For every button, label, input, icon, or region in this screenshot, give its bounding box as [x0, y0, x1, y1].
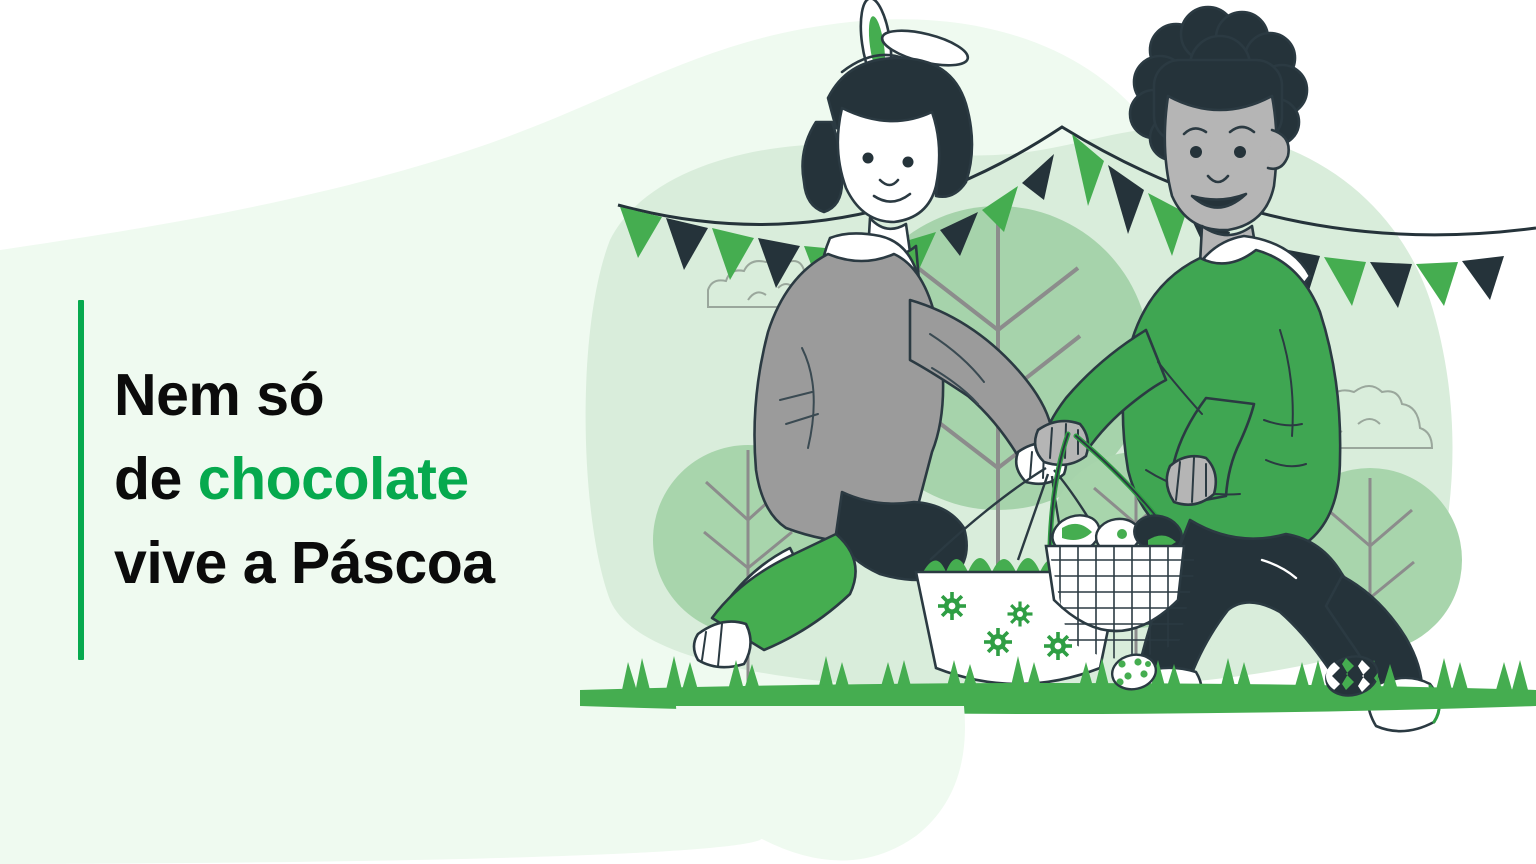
headline-block: Nem só de chocolate vive a Páscoa	[78, 300, 495, 660]
ground	[580, 656, 1536, 861]
headline-line-1: Nem só	[114, 354, 495, 438]
page-title: Nem só de chocolate vive a Páscoa	[114, 300, 495, 660]
accent-bar	[78, 300, 84, 660]
headline-accent-word: chocolate	[198, 446, 469, 512]
headline-line-2: de chocolate	[114, 438, 495, 522]
headline-line-2-plain: de	[114, 446, 198, 512]
headline-line-3: vive a Páscoa	[114, 522, 495, 606]
poster-canvas: Nem só de chocolate vive a Páscoa	[0, 0, 1536, 864]
easter-egg-hunt-illustration	[580, 0, 1536, 864]
